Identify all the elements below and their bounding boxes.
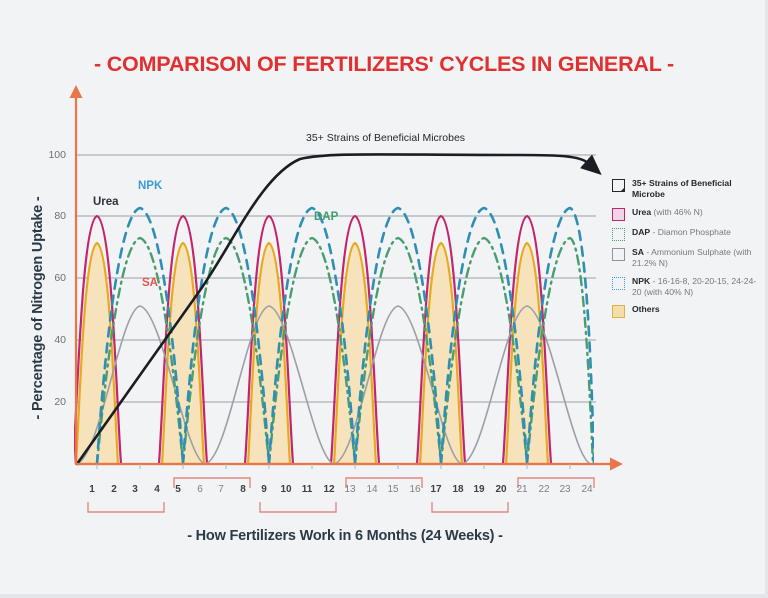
legend-label-urea: Urea (with 46% N) (632, 207, 703, 218)
legend-item-others[interactable]: Others (612, 304, 764, 318)
legend-label-npk: NPK - 16-16-8, 20-20-15, 24-24-20 (with … (632, 276, 764, 299)
series-label-dap: DAP (314, 211, 338, 223)
x-axis-caption: - How Fertilizers Work in 6 Months (24 W… (0, 528, 690, 544)
x-tick-19: 19 (470, 484, 488, 495)
legend: 35+ Strains of Beneficial Microbe Urea (… (612, 178, 764, 324)
x-tick-14: 14 (363, 484, 381, 495)
x-tick-2: 2 (105, 484, 123, 495)
legend-label-microbe: 35+ Strains of Beneficial Microbe (632, 178, 764, 201)
legend-label-sa: SA - Ammonium Sulphate (with 21.2% N) (632, 247, 764, 270)
x-tick-1: 1 (83, 484, 101, 495)
legend-item-urea[interactable]: Urea (with 46% N) (612, 207, 764, 221)
y-tick-100: 100 (36, 149, 66, 161)
x-tick-6: 6 (191, 484, 209, 495)
x-tick-16: 16 (406, 484, 424, 495)
y-tick-40: 40 (40, 334, 66, 346)
legend-label-dap: DAP - Diamon Phosphate (632, 227, 731, 238)
x-tick-7: 7 (212, 484, 230, 495)
legend-swatch-dap-icon (612, 228, 625, 241)
legend-swatch-sa-icon (612, 248, 625, 261)
y-tick-60: 60 (40, 272, 66, 284)
legend-swatch-microbe-icon (612, 179, 625, 192)
x-tick-24: 24 (578, 484, 596, 495)
x-tick-11: 11 (298, 484, 316, 495)
legend-label-others: Others (632, 304, 660, 315)
x-tick-15: 15 (384, 484, 402, 495)
x-tick-22: 22 (535, 484, 553, 495)
x-tick-4: 4 (148, 484, 166, 495)
x-tick-21: 21 (513, 484, 531, 495)
x-tick-20: 20 (492, 484, 510, 495)
x-tick-8: 8 (234, 484, 252, 495)
legend-swatch-urea-icon (612, 208, 625, 221)
series-label-microbes: 35+ Strains of Beneficial Microbes (306, 132, 465, 144)
series-label-sa: SA (142, 277, 158, 289)
series-others (76, 242, 548, 464)
y-tick-20: 20 (40, 396, 66, 408)
x-tick-18: 18 (449, 484, 467, 495)
legend-item-sa[interactable]: SA - Ammonium Sulphate (with 21.2% N) (612, 247, 764, 270)
series-label-urea: Urea (93, 196, 119, 208)
series-label-npk: NPK (138, 180, 162, 192)
x-tick-12: 12 (320, 484, 338, 495)
legend-swatch-others-icon (612, 305, 625, 318)
x-tick-23: 23 (556, 484, 574, 495)
legend-item-dap[interactable]: DAP - Diamon Phosphate (612, 227, 764, 241)
y-tick-80: 80 (40, 210, 66, 222)
legend-item-microbe[interactable]: 35+ Strains of Beneficial Microbe (612, 178, 764, 201)
x-tick-17: 17 (427, 484, 445, 495)
chart-canvas: - COMPARISON OF FERTILIZERS' CYCLES IN G… (0, 0, 768, 598)
x-tick-5: 5 (169, 484, 187, 495)
legend-item-npk[interactable]: NPK - 16-16-8, 20-20-15, 24-24-20 (with … (612, 276, 764, 299)
x-tick-3: 3 (126, 484, 144, 495)
x-tick-10: 10 (277, 484, 295, 495)
x-tick-13: 13 (341, 484, 359, 495)
x-tick-9: 9 (255, 484, 273, 495)
legend-swatch-npk-icon (612, 277, 625, 290)
